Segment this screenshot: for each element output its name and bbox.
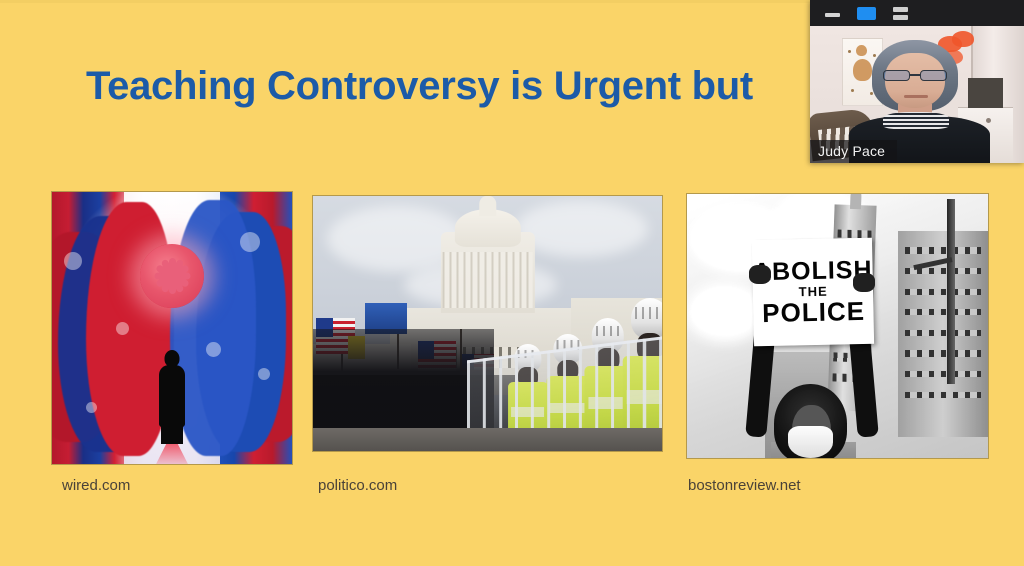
- figure-caption-politico: politico.com: [318, 477, 397, 494]
- figure-caption-bostonreview: bostonreview.net: [688, 477, 801, 494]
- figure-politico: [313, 196, 662, 451]
- figure-wired: [52, 192, 292, 464]
- protest-sign-line-3: POLICE: [762, 298, 865, 326]
- participant-name-label: Judy Pace: [810, 140, 897, 163]
- figure-wired-image: [52, 192, 292, 464]
- participant-collar: [883, 112, 949, 128]
- figure-bostonreview-image: ABOLISH THE POLICE: [687, 194, 988, 458]
- polarization-illustration: [52, 192, 292, 464]
- layout-icon[interactable]: [892, 5, 909, 22]
- capitol-columns: [442, 252, 533, 308]
- capitol-riot-photo: [313, 196, 662, 451]
- protest-photo: ABOLISH THE POLICE: [687, 194, 988, 458]
- glasses-icon: [883, 70, 947, 81]
- capitol-lantern: [479, 196, 496, 216]
- video-panel-titlebar[interactable]: [810, 0, 1024, 26]
- virus-icon: [140, 244, 204, 308]
- participant-video[interactable]: Judy Pace: [810, 26, 1024, 163]
- video-panel[interactable]: Judy Pace: [810, 0, 1024, 163]
- slide-screenshot: Teaching Controversy is Urgent but: [0, 0, 1024, 566]
- figure-caption-wired: wired.com: [62, 477, 130, 494]
- lamp-post: [947, 199, 955, 384]
- page-title: Teaching Controversy is Urgent but: [86, 60, 826, 112]
- person-silhouette-legs: [161, 418, 183, 444]
- protest-sign: ABOLISH THE POLICE: [752, 238, 875, 346]
- participant-face: [885, 53, 945, 108]
- maximize-icon[interactable]: [857, 7, 876, 20]
- participant-mouth: [904, 95, 928, 98]
- protester-hand-left: [749, 265, 772, 283]
- figure-politico-image: [313, 196, 662, 451]
- ground: [313, 428, 662, 451]
- figure-bostonreview: ABOLISH THE POLICE: [687, 194, 988, 458]
- face-mask: [788, 426, 833, 458]
- protester-hand-right: [853, 273, 876, 291]
- dark-object: [968, 78, 1002, 108]
- minimize-icon[interactable]: [824, 5, 841, 22]
